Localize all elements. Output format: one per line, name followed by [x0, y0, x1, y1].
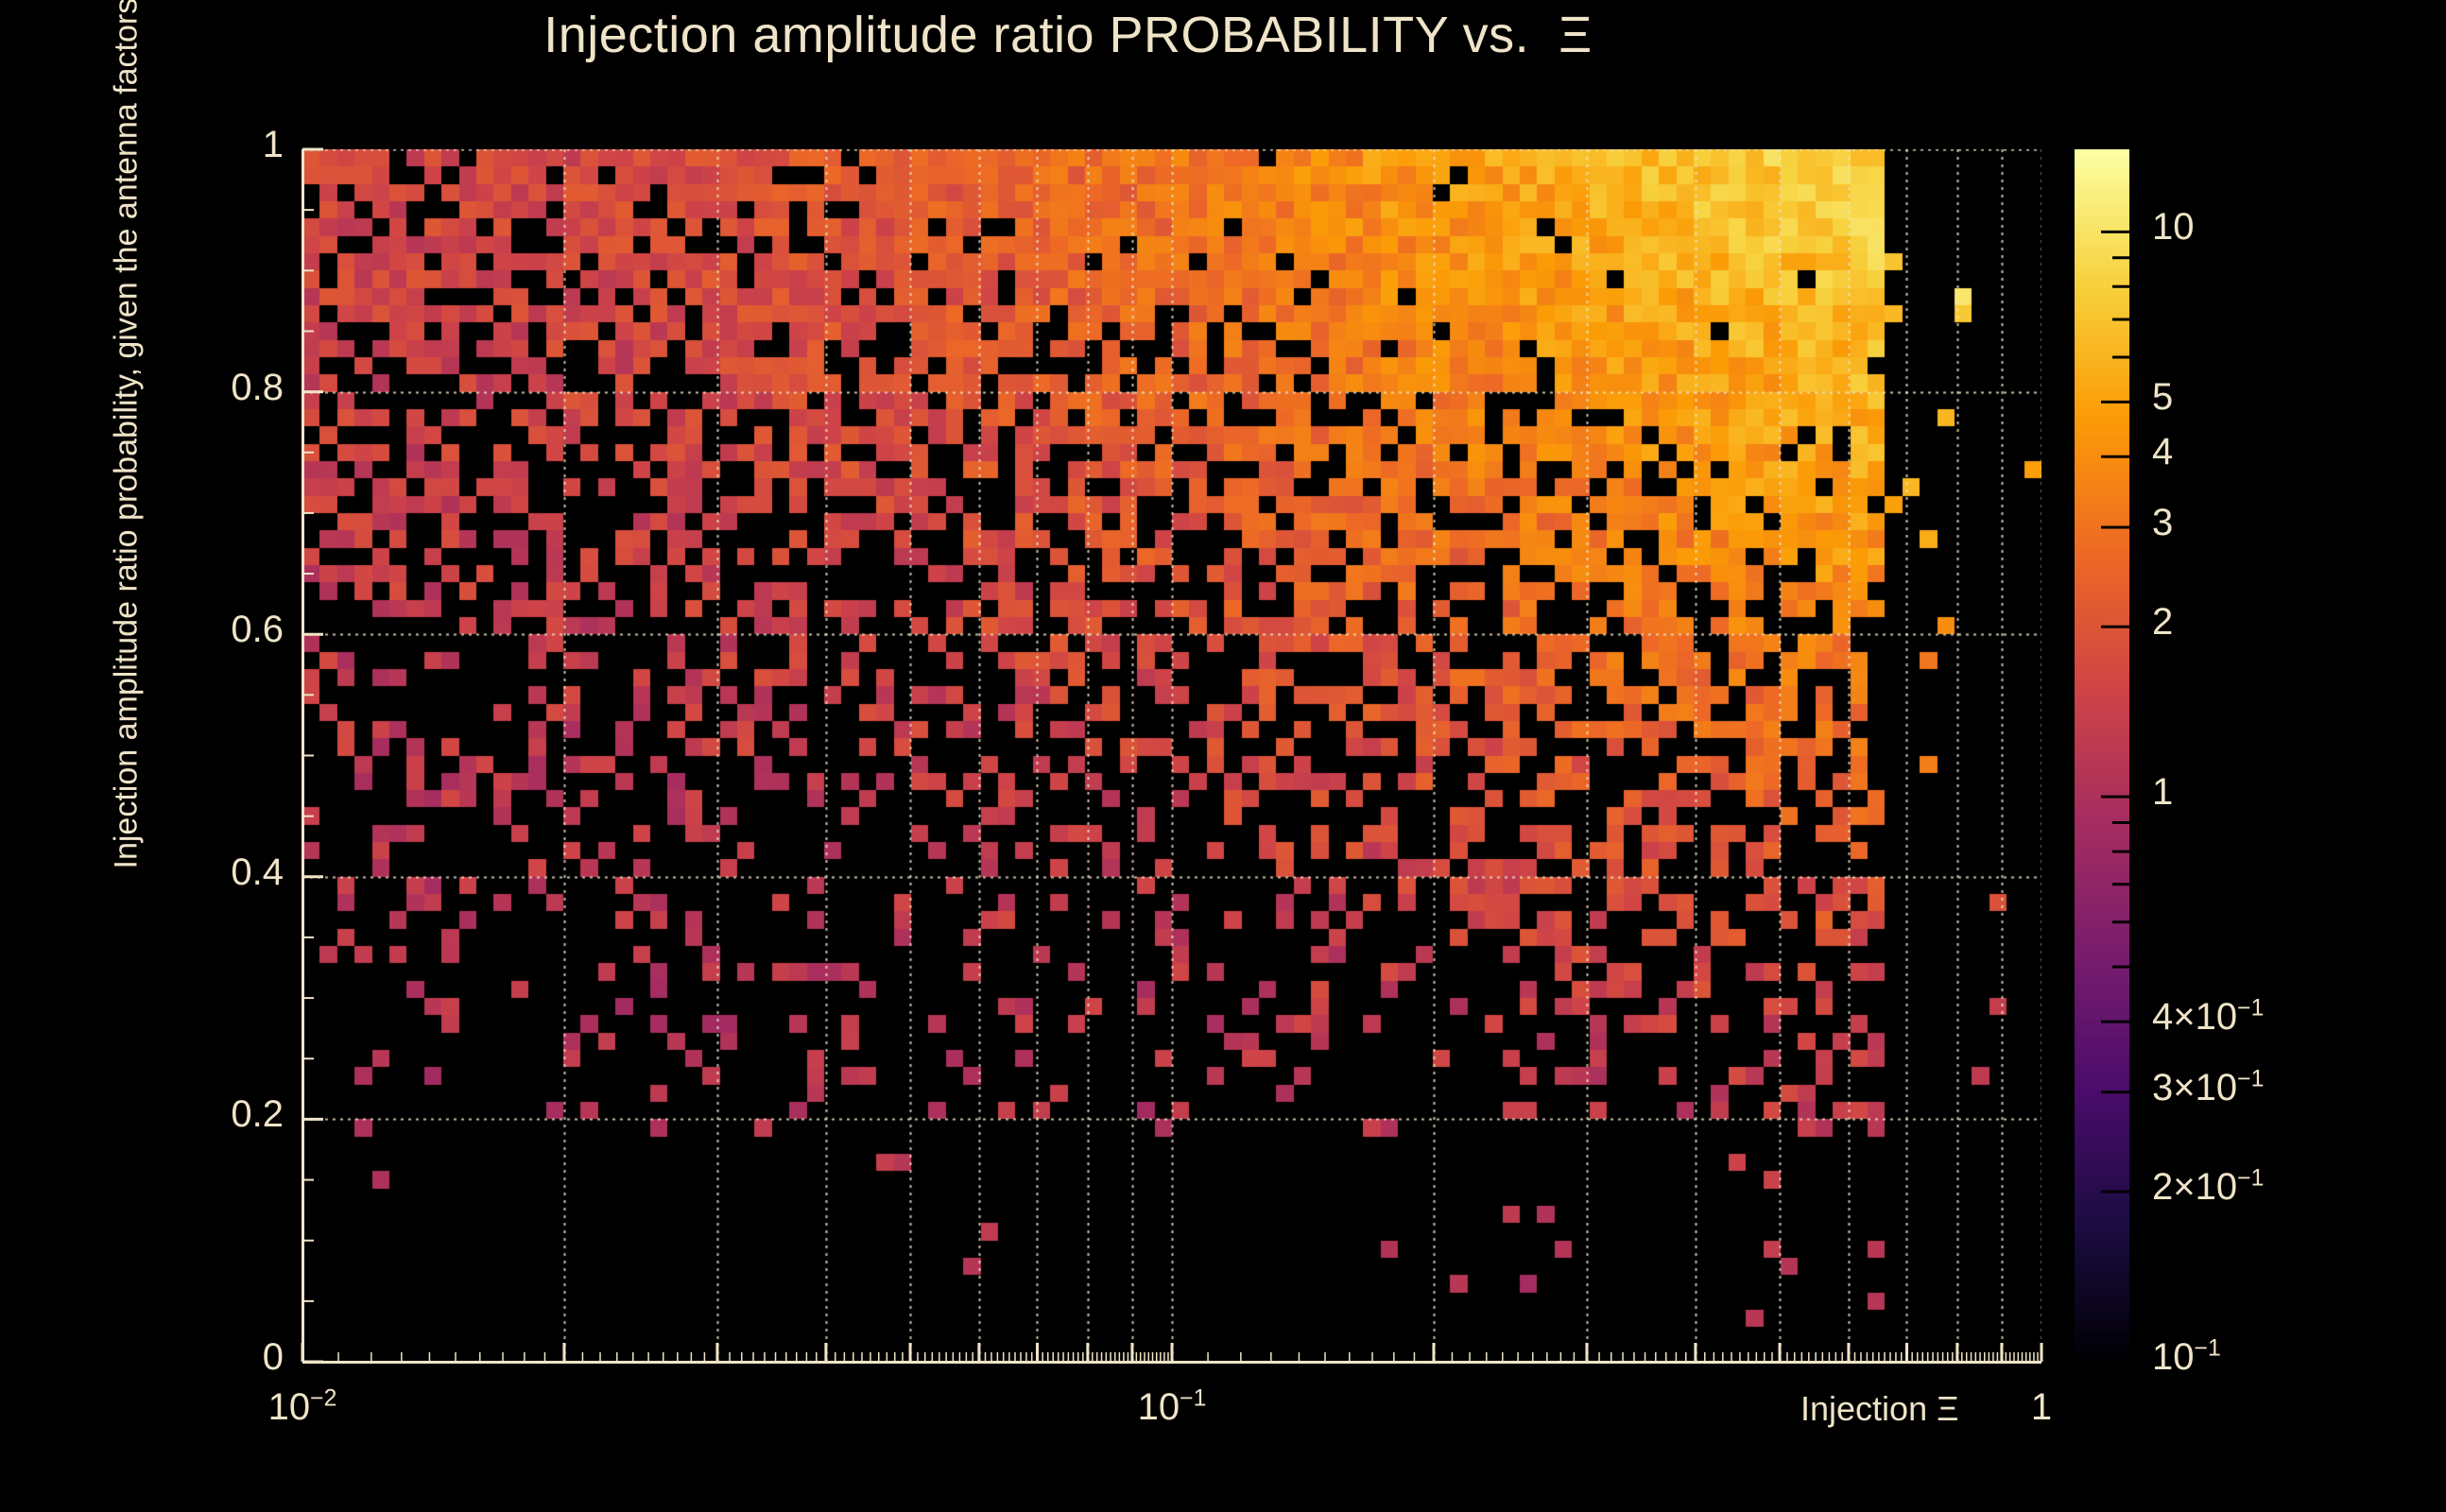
y-tick-label-3: 0.6	[161, 609, 284, 651]
x-tick-label-1: 10−1	[1087, 1386, 1257, 1429]
z-tick-label-0: 10−1	[2152, 1336, 2417, 1379]
z-tick-label-6: 3	[2152, 502, 2417, 544]
z-tick-label-1: 2×10−1	[2152, 1166, 2417, 1209]
y-tick-label-0: 0	[161, 1336, 284, 1379]
z-tick-label-2: 3×10−1	[2152, 1067, 2417, 1109]
y-axis-title: Injection amplitude ratio probability, g…	[109, 38, 146, 869]
z-tick-label-9: 10	[2152, 206, 2417, 249]
z-tick-label-4: 1	[2152, 771, 2417, 814]
heatmap-cells	[302, 149, 2041, 1362]
y-tick-label-4: 0.8	[161, 367, 284, 409]
colorbar	[2075, 149, 2129, 1362]
z-tick-label-3: 4×10−1	[2152, 996, 2417, 1039]
heatmap-plot-area	[302, 149, 2041, 1362]
x-axis-title: Injection Ξ	[1800, 1389, 1958, 1429]
x-tick-label-2: 1	[1956, 1386, 2127, 1429]
z-tick-label-7: 4	[2152, 431, 2417, 473]
y-tick-label-1: 0.2	[161, 1093, 284, 1136]
plot-canvas: Injection amplitude ratio PROBABILITY vs…	[0, 0, 2446, 1512]
x-tick-label-0: 10−2	[217, 1386, 388, 1429]
z-tick-label-8: 5	[2152, 376, 2417, 419]
z-tick-label-5: 2	[2152, 601, 2417, 644]
y-tick-label-5: 1	[161, 124, 284, 166]
page-title: Injection amplitude ratio PROBABILITY vs…	[0, 6, 2136, 64]
y-tick-label-2: 0.4	[161, 851, 284, 894]
colorbar-gradient	[2075, 149, 2129, 1362]
